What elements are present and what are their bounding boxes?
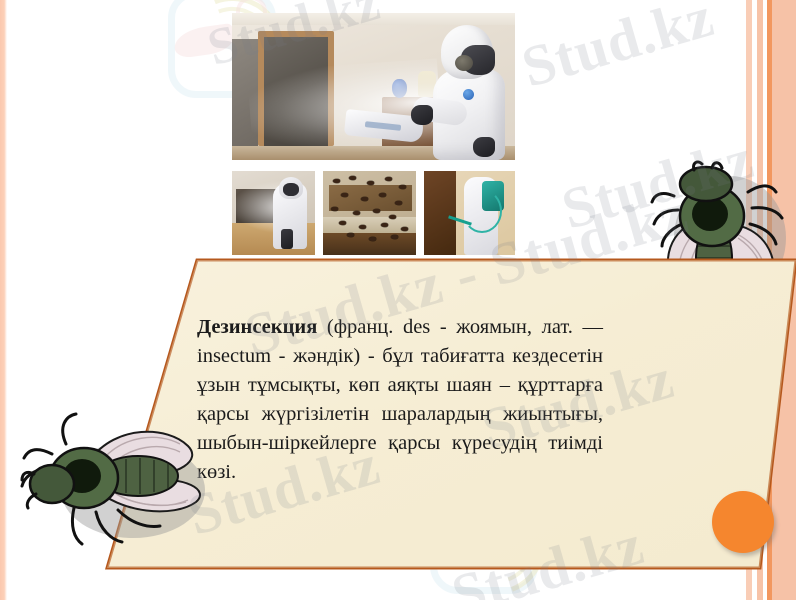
slide-canvas: Дезинсекция (франц. des - жоямын, лат. —… — [0, 0, 796, 600]
thumbnail-photo-1 — [232, 171, 315, 255]
definition-term: Дезинсекция — [197, 316, 317, 338]
photo-collage — [232, 13, 515, 266]
main-photo-disinfection — [232, 13, 515, 160]
thumbnail-photo-2 — [323, 171, 416, 255]
definition-text: Дезинсекция (франц. des - жоямын, лат. —… — [197, 313, 603, 487]
orange-circle-decoration — [712, 491, 774, 553]
watermark-text: Stud.kz — [515, 0, 721, 101]
fly-illustration-left — [18, 400, 208, 550]
definition-body: (франц. des - жоямын, лат. — insectum - … — [197, 316, 603, 483]
thumbnail-photo-3 — [424, 171, 515, 255]
